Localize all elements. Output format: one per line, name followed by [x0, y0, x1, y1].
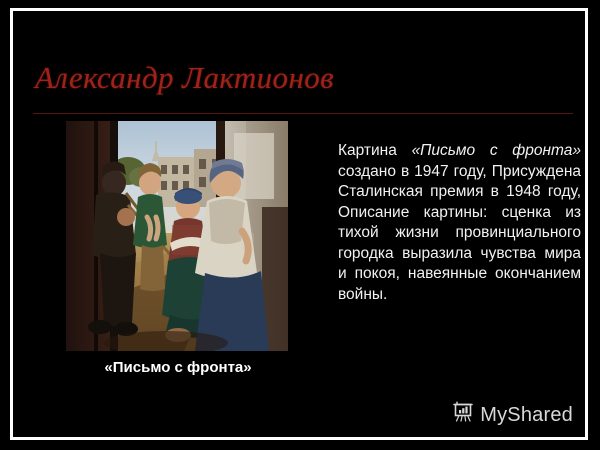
myshared-wordmark: MyShared — [480, 404, 573, 426]
description-work-title: «Письмо с фронта» — [412, 142, 581, 159]
myshared-logo[interactable]: MyShared — [451, 400, 573, 429]
description-rest: создано в 1947 году, Присуждена Сталинск… — [338, 163, 581, 303]
description-lead: Картина — [338, 142, 397, 159]
painting-caption: «Письмо с фронта» — [58, 359, 298, 377]
description-text: Картина «Письмо с фронта» создано в 1947… — [338, 141, 581, 305]
painting-block: «Письмо с фронта» — [66, 121, 288, 351]
slide-canvas: Александр Лактионов — [13, 11, 585, 437]
slide-frame: Александр Лактионов — [10, 8, 588, 440]
title-divider — [33, 113, 573, 114]
presentation-chart-icon — [451, 400, 475, 429]
painting-image — [66, 121, 288, 351]
page-title: Александр Лактионов — [35, 59, 334, 97]
painting-artwork-icon — [66, 121, 288, 351]
